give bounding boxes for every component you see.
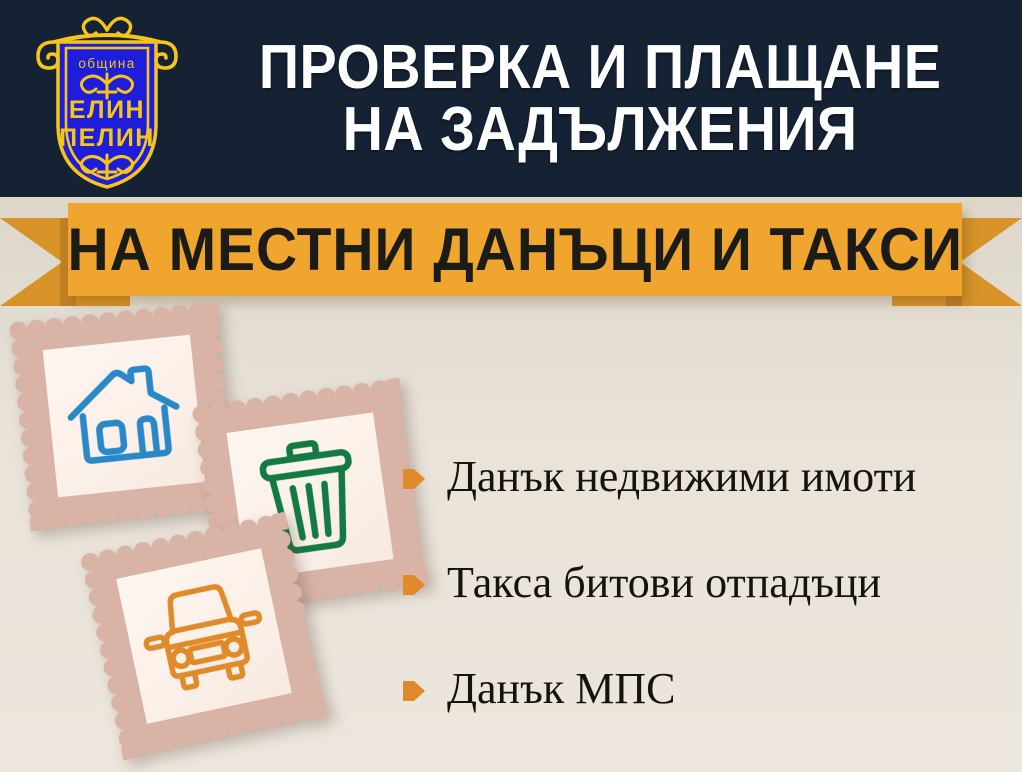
ribbon-main-band: НА МЕСТНИ ДАНЪЦИ И ТАКСИ bbox=[68, 203, 962, 296]
page-title-line-1: ПРОВЕРКА И ПЛАЩАНЕ bbox=[259, 37, 942, 98]
arrow-bullet-icon bbox=[403, 573, 425, 597]
page-title-line-2: НА ЗАДЪЛЖЕНИЯ bbox=[343, 99, 858, 160]
municipality-logo: община ЕЛИН ПЕЛИН bbox=[28, 6, 186, 192]
car-icon bbox=[133, 572, 276, 700]
list-item[interactable]: Данък недвижими имоти bbox=[403, 424, 1003, 530]
svg-text:ЕЛИН: ЕЛИН bbox=[69, 96, 145, 124]
tax-type-list: Данък недвижими имоти Такса битови отпад… bbox=[403, 424, 1003, 742]
list-item-label: Такса битови отпадъци bbox=[447, 561, 881, 605]
ribbon-subtitle: НА МЕСТНИ ДАНЪЦИ И ТАКСИ bbox=[67, 220, 962, 280]
stamp-card-vehicle bbox=[90, 522, 318, 750]
list-item[interactable]: Такса битови отпадъци bbox=[403, 530, 1003, 636]
stamp-paper bbox=[116, 548, 292, 724]
svg-text:ПЕЛИН: ПЕЛИН bbox=[59, 124, 155, 152]
poster-root: община ЕЛИН ПЕЛИН bbox=[0, 0, 1022, 772]
stamp-paper bbox=[43, 335, 206, 498]
list-item-label: Данък МПС bbox=[447, 667, 675, 711]
header-banner: община ЕЛИН ПЕЛИН bbox=[0, 0, 1022, 197]
svg-text:община: община bbox=[78, 56, 135, 71]
arrow-bullet-icon bbox=[403, 467, 425, 491]
house-icon bbox=[60, 358, 188, 474]
arrow-bullet-icon bbox=[403, 679, 425, 703]
list-item[interactable]: Данък МПС bbox=[403, 636, 1003, 742]
subtitle-ribbon: НА МЕСТНИ ДАНЪЦИ И ТАКСИ bbox=[0, 197, 1022, 309]
header-title-block: ПРОВЕРКА И ПЛАЩАНЕ НА ЗАДЪЛЖЕНИЯ bbox=[190, 0, 1010, 197]
list-item-label: Данък недвижими имоти bbox=[447, 455, 916, 499]
